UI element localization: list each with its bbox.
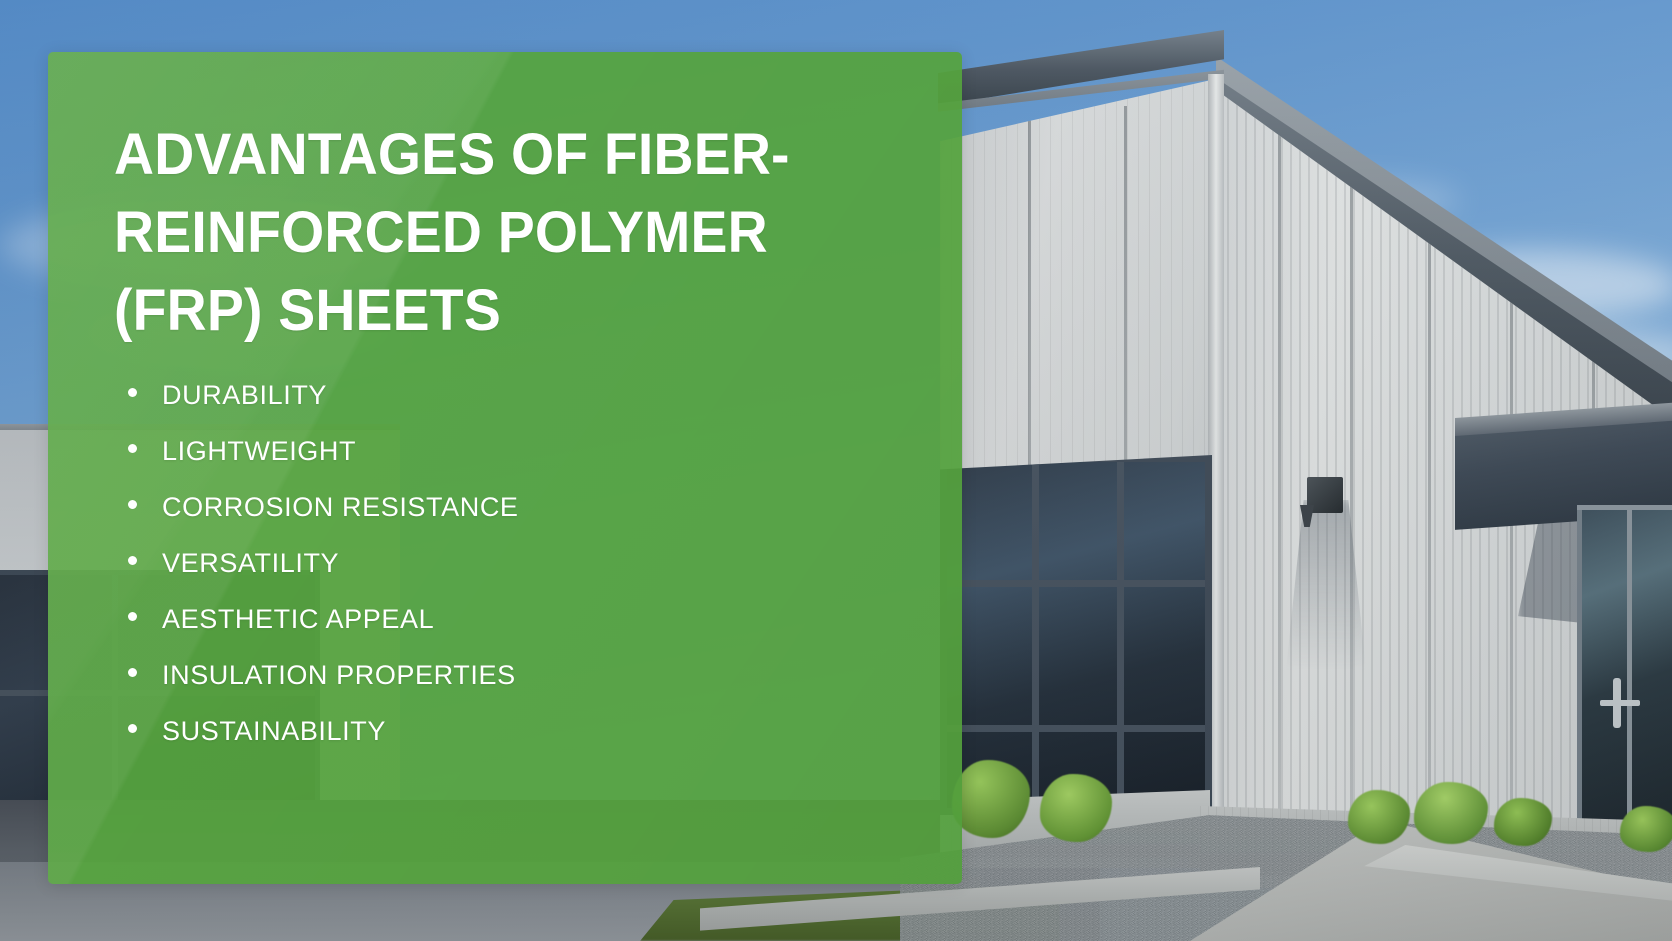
list-item: INSULATION PROPERTIES [128, 660, 519, 716]
bullet-dot-icon [128, 388, 137, 397]
siding-seam [1428, 136, 1431, 896]
siding-seam [1350, 106, 1353, 896]
door-push-bar [1600, 700, 1640, 706]
bullet-dot-icon [128, 444, 137, 453]
bullet-dot-icon [128, 724, 137, 733]
entrance-doors [1577, 505, 1672, 830]
slide-canvas: ADVANTAGES OF FIBER-REINFORCED POLYMER (… [0, 0, 1672, 941]
list-item: LIGHTWEIGHT [128, 436, 519, 492]
list-item: DURABILITY [128, 380, 519, 436]
list-item-label: DURABILITY [162, 380, 327, 411]
bullet-dot-icon [128, 612, 137, 621]
bullet-dot-icon [128, 668, 137, 677]
siding-seam [1278, 78, 1281, 888]
bullet-dot-icon [128, 500, 137, 509]
list-item-label: INSULATION PROPERTIES [162, 660, 516, 691]
list-item: CORROSION RESISTANCE [128, 492, 519, 548]
list-item: SUSTAINABILITY [128, 716, 519, 772]
list-item: VERSATILITY [128, 548, 519, 604]
bullet-dot-icon [128, 556, 137, 565]
window-mullion [1032, 462, 1039, 808]
list-item-label: AESTHETIC APPEAL [162, 604, 434, 635]
door-transom-bar [1577, 505, 1672, 510]
advantages-list: DURABILITY LIGHTWEIGHT CORROSION RESISTA… [128, 380, 519, 772]
window-mullion [947, 725, 1205, 732]
list-item-label: LIGHTWEIGHT [162, 436, 356, 467]
list-item-label: CORROSION RESISTANCE [162, 492, 519, 523]
door-center-stile [1627, 505, 1632, 830]
shrub [1620, 806, 1672, 852]
list-item: AESTHETIC APPEAL [128, 604, 519, 660]
list-item-label: VERSATILITY [162, 548, 339, 579]
window-mullion [947, 580, 1205, 587]
list-item-label: SUSTAINABILITY [162, 716, 386, 747]
window-mullion [1117, 462, 1124, 808]
page-title: ADVANTAGES OF FIBER-REINFORCED POLYMER (… [114, 116, 859, 350]
